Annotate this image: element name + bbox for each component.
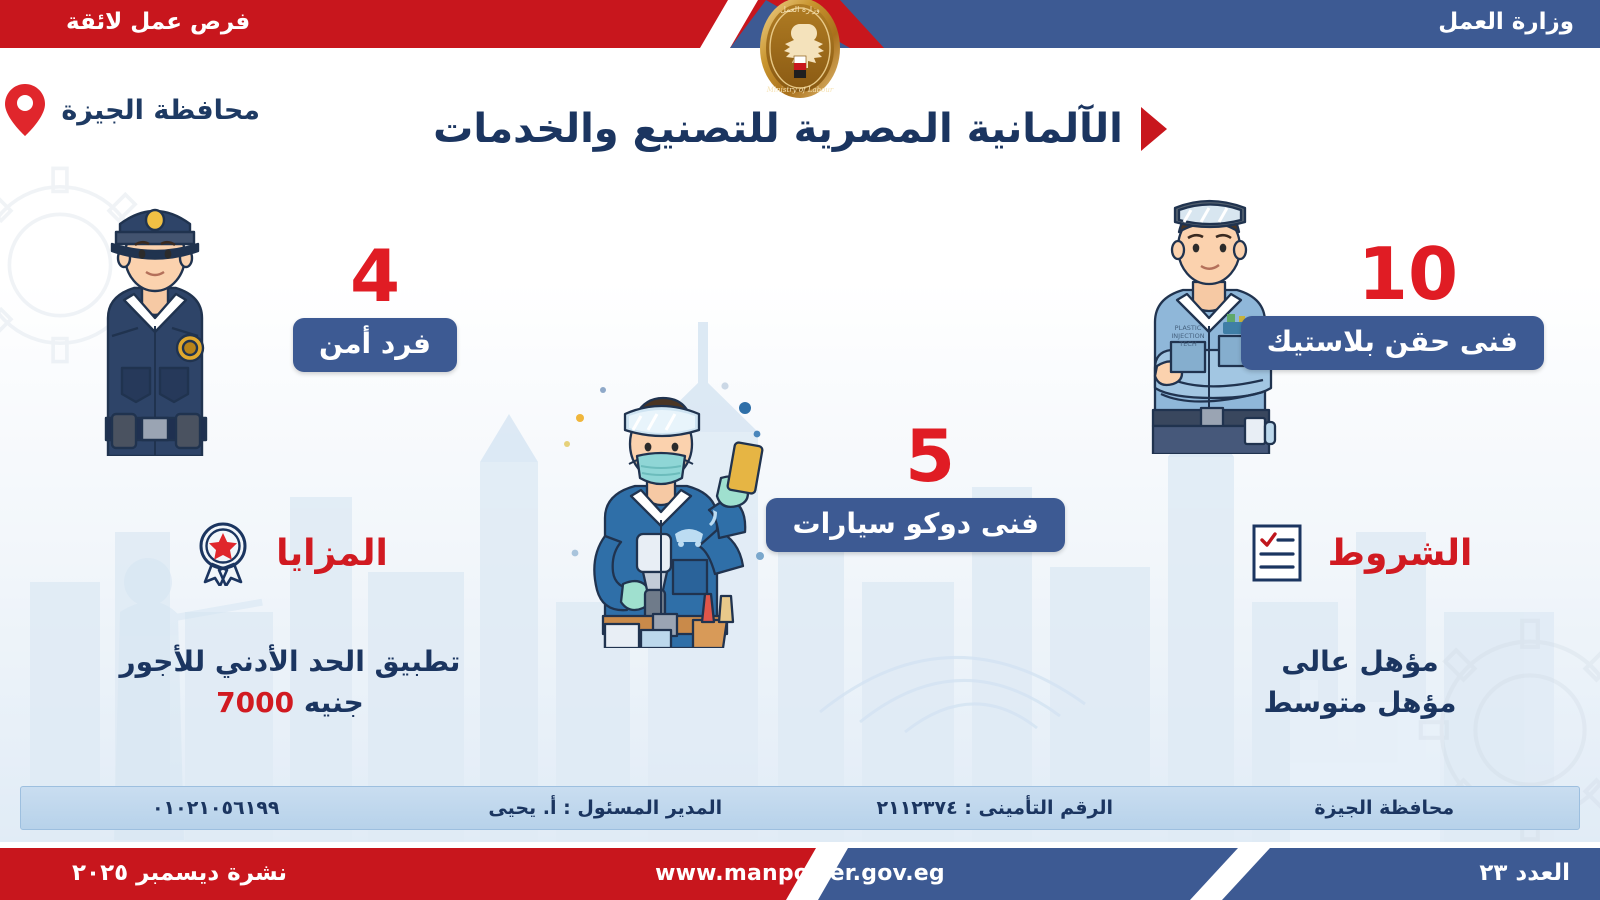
benefits-line-2: جنيه 7000 <box>95 683 485 724</box>
job-title-badge[interactable]: فنى حقن بلاستيك <box>1241 316 1544 370</box>
info-governorate: محافظة الجيزة <box>1190 797 1580 819</box>
ministry-label: وزارة العمل <box>1438 9 1574 35</box>
benefits-amount: 7000 <box>216 686 294 719</box>
job-count: 5 <box>795 422 1065 490</box>
company-name: الآلمانية المصرية للتصنيع والخدمات <box>433 106 1123 152</box>
footer-website-link[interactable]: www.manpower.gov.eg <box>0 861 1600 886</box>
contact-info-bar: محافظة الجيزة الرقم التأمينى : ٢١١٢٣٧٤ ا… <box>20 786 1580 830</box>
job-entry-plastic-injection: 10 فنى حقن بلاستيك <box>1272 240 1544 370</box>
svg-text:PLASTIC: PLASTIC <box>1175 324 1202 332</box>
conditions-body: مؤهل عالى مؤهل متوسط <box>1175 642 1545 723</box>
triangle-left-icon <box>1141 107 1167 151</box>
benefits-currency: جنيه <box>304 686 364 719</box>
security-guard-illustration <box>50 168 260 460</box>
job-count: 10 <box>1272 240 1544 308</box>
tagline-label: فرص عمل لائقة <box>66 9 250 35</box>
benefits-body: تطبيق الحد الأدني للأجور جنيه 7000 <box>95 642 485 723</box>
job-count: 4 <box>255 242 495 310</box>
footer-issue-label: العدد ٢٣ <box>1479 860 1570 886</box>
conditions-title: الشروط <box>1328 533 1473 574</box>
ministry-emblem: وزارة العمل Ministry of Labour <box>746 0 854 104</box>
emblem-bottom-text: Ministry of Labour <box>766 86 834 94</box>
medal-ribbon-icon <box>192 520 254 586</box>
benefits-line-1: تطبيق الحد الأدني للأجور <box>95 642 485 683</box>
benefits-section: المزايا تطبيق الحد الأدني للأجور جنيه 70… <box>95 520 485 723</box>
conditions-header: الشروط <box>1175 520 1545 586</box>
svg-text:TECH: TECH <box>1178 340 1197 348</box>
job-title-badge[interactable]: فرد أمن <box>293 318 457 372</box>
car-painter-illustration <box>545 348 785 652</box>
clipboard-checklist-icon <box>1248 520 1306 586</box>
condition-item: مؤهل متوسط <box>1175 683 1545 724</box>
benefits-title: المزايا <box>276 533 388 574</box>
infographic-page: وزارة العمل فرص عمل لائقة <box>0 0 1600 900</box>
conditions-section: الشروط مؤهل عالى مؤهل متوسط <box>1175 520 1545 723</box>
benefits-header: المزايا <box>95 520 485 586</box>
footer-ribbon: نشرة ديسمبر ٢٠٢٥ www.manpower.gov.eg الع… <box>0 848 1600 900</box>
info-insurance-number: الرقم التأمينى : ٢١١٢٣٧٤ <box>800 797 1190 819</box>
page-title: الآلمانية المصرية للتصنيع والخدمات <box>0 106 1600 152</box>
info-responsible-manager: المدير المسئول : أ. يحيى <box>411 797 801 819</box>
emblem-top-text: وزارة العمل <box>780 5 820 14</box>
condition-item: مؤهل عالى <box>1175 642 1545 683</box>
info-phone-number[interactable]: ٠١٠٢١٠٥٦١٩٩ <box>21 797 411 819</box>
job-title-badge[interactable]: فنى دوكو سيارات <box>766 498 1065 552</box>
job-entry-car-painter: 5 فنى دوكو سيارات <box>795 422 1065 552</box>
svg-text:INJECTION: INJECTION <box>1171 332 1204 340</box>
job-entry-security: 4 فرد أمن <box>255 242 495 372</box>
